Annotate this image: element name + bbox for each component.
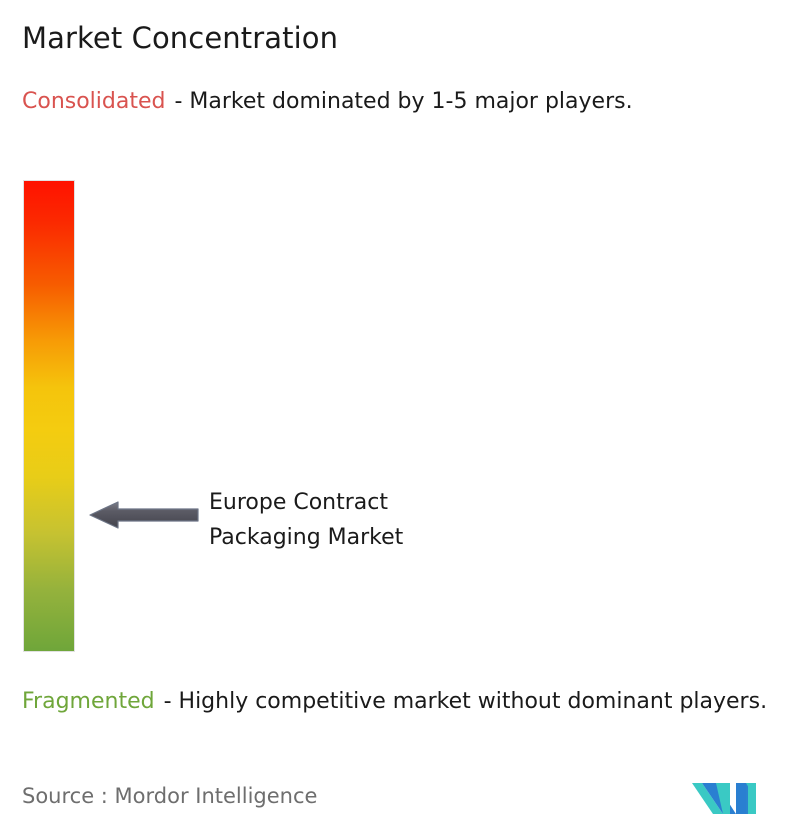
chart-canvas: Market Concentration Consolidated- Marke…: [0, 0, 796, 834]
consolidated-caption: Consolidated- Market dominated by 1-5 ma…: [22, 86, 778, 117]
consolidated-description: - Market dominated by 1-5 major players.: [174, 89, 632, 114]
gradient-scale-bar: [24, 181, 74, 651]
fragmented-description: - Highly competitive market without domi…: [164, 689, 767, 714]
consolidated-keyword: Consolidated: [22, 89, 165, 114]
market-concentration-scale: [23, 180, 75, 652]
fragmented-caption: Fragmented- Highly competitive market wi…: [22, 686, 788, 717]
marker-label: Europe Contract Packaging Market: [209, 485, 403, 555]
source-text: Source : Mordor Intelligence: [22, 783, 317, 809]
fragmented-keyword: Fragmented: [22, 689, 155, 714]
mordor-intelligence-logo-icon: [692, 772, 768, 814]
marker-arrow-icon: [89, 501, 199, 529]
page-title: Market Concentration: [22, 21, 338, 55]
